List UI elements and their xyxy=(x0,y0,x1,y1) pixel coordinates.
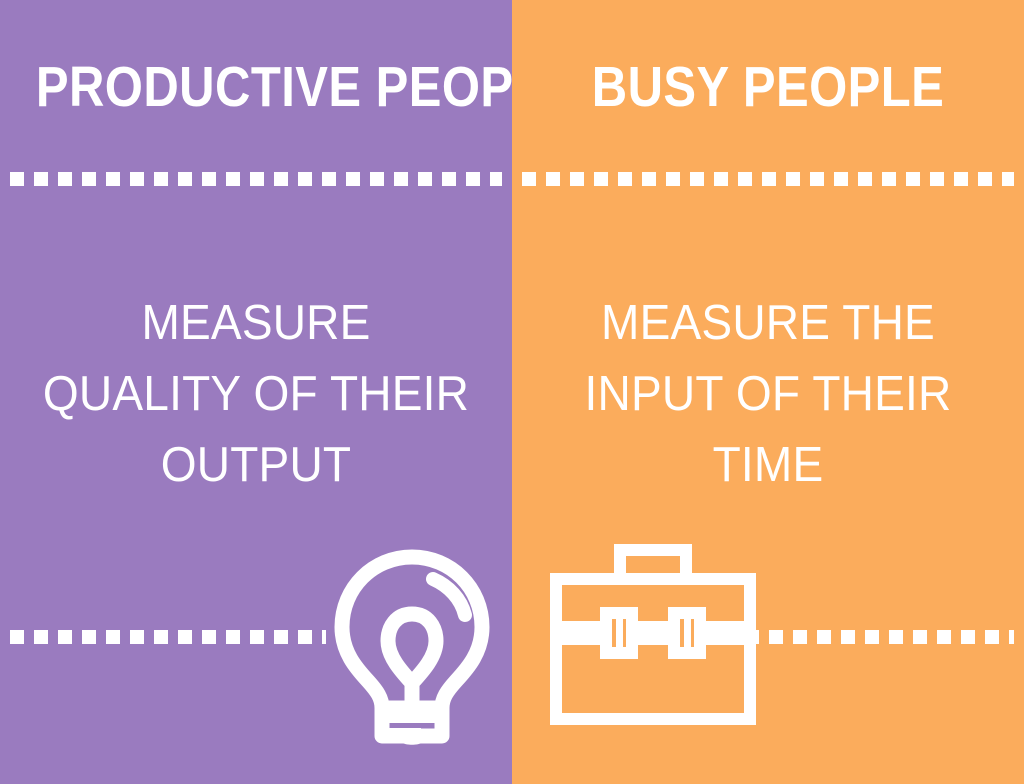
panel-busy-body-line-3: TIME xyxy=(554,430,983,501)
panel-productive-body-line-3: OUTPUT xyxy=(42,430,471,501)
comparison-infographic: PRODUCTIVE PEOPLE MEASURE QUALITY OF THE… xyxy=(0,0,1024,784)
panel-busy-body-line-1: MEASURE THE xyxy=(554,288,983,359)
panel-busy-heading: BUSY PEOPLE xyxy=(548,56,988,118)
dashed-divider-top-right xyxy=(522,172,1014,186)
panel-productive-heading: PRODUCTIVE PEOPLE xyxy=(36,56,476,118)
briefcase-icon xyxy=(550,543,756,725)
dashed-divider-bottom-right xyxy=(745,630,1014,644)
panel-productive-body: MEASURE QUALITY OF THEIR OUTPUT xyxy=(42,288,471,501)
panel-busy-body: MEASURE THE INPUT OF THEIR TIME xyxy=(554,288,983,501)
panel-busy-body-line-2: INPUT OF THEIR xyxy=(554,359,983,430)
panel-productive-people: PRODUCTIVE PEOPLE MEASURE QUALITY OF THE… xyxy=(0,0,512,784)
dashed-divider-bottom-left xyxy=(10,630,326,644)
dashed-divider-top-left xyxy=(10,172,502,186)
lightbulb-icon xyxy=(332,548,492,746)
panel-productive-body-line-2: QUALITY OF THEIR xyxy=(42,359,471,430)
panel-productive-body-line-1: MEASURE xyxy=(42,288,471,359)
panel-busy-people: BUSY PEOPLE MEASURE THE INPUT OF THEIR T… xyxy=(512,0,1024,784)
